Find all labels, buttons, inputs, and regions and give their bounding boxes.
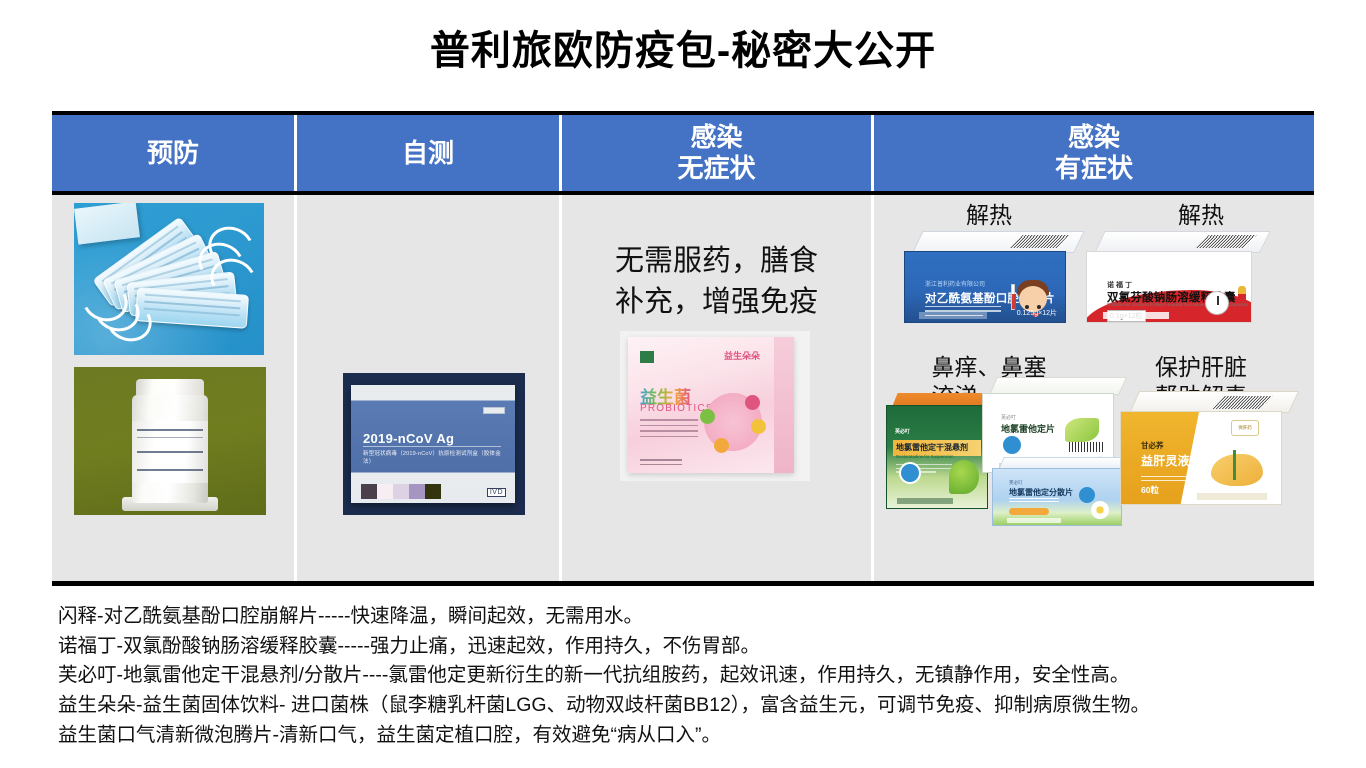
liver-brand: 甘必荞 bbox=[1141, 440, 1164, 451]
leaf-icon bbox=[949, 460, 979, 494]
column-header-self-test: 自测 bbox=[297, 115, 562, 191]
suspension-maker-strip bbox=[897, 498, 953, 504]
dispersible-claims bbox=[1009, 498, 1059, 504]
liver-count: 60粒 bbox=[1141, 484, 1159, 496]
bottle-label bbox=[132, 421, 208, 483]
table-header-row: 预防 自测 感染 无症状 感染 有症状 bbox=[52, 111, 1314, 195]
clock-icon bbox=[1205, 291, 1229, 315]
asymptomatic-advice-line2: 补充，增强免疫 bbox=[562, 282, 871, 323]
plant-leaves bbox=[1219, 448, 1251, 464]
barcode-icon bbox=[1213, 396, 1273, 409]
kit-ivd-mark: IVD bbox=[487, 488, 506, 497]
liver-box-face: 甘必荞 益肝灵液体胶囊 60粒 保肝药 bbox=[1120, 411, 1282, 505]
paracetamol-maker-strip bbox=[919, 312, 987, 319]
column-header-asymptomatic: 感染 无症状 bbox=[562, 115, 874, 191]
cell-self-test: 2019-nCoV Ag 新型冠状病毒（2019-nCoV）抗原检测试剂盒（胶体… bbox=[297, 195, 562, 581]
kit-subtitle: 新型冠状病毒（2019-nCoV）抗原检测试剂盒（胶体金法） bbox=[363, 449, 505, 465]
page-title: 普利旅欧防疫包-秘密大公开 bbox=[0, 18, 1366, 76]
note-line: 诺福丁-双氯酚酸钠肠溶缓释胶囊-----强力止痛，迅速起效，作用持久，不伤胃部。 bbox=[58, 632, 1343, 662]
note-line: 益生朵朵-益生菌固体饮料- 进口菌株（鼠李糖乳杆菌LGG、动物双歧杆菌BB12）… bbox=[58, 691, 1343, 721]
mouth-tablet-bottle-photo bbox=[74, 367, 266, 515]
paracetamol-box-face: 浙江普利药业有限公司 对乙酰氨基酚口腔崩解片 bbox=[904, 251, 1066, 323]
probiotics-brand: 益生朵朵 bbox=[724, 349, 760, 362]
liver-claims bbox=[1141, 476, 1199, 483]
barcode-icon bbox=[1069, 442, 1103, 452]
cell-symptomatic: 解热 解热 鼻痒、鼻塞 流涕、喷嚏 保护肝脏 帮助解毒 bbox=[874, 195, 1314, 581]
liver-box-top bbox=[1129, 391, 1299, 413]
mask-photo-corner bbox=[74, 203, 140, 245]
probiotics-box: 益生朵朵 益生菌 PROBIOTICS bbox=[628, 337, 794, 473]
barcode-icon bbox=[1010, 235, 1069, 248]
antigen-test-kit-photo: 2019-nCoV Ag 新型冠状病毒（2019-nCoV）抗原检测试剂盒（胶体… bbox=[343, 373, 525, 515]
quality-seal-icon bbox=[899, 462, 921, 484]
column-header-symptomatic: 感染 有症状 bbox=[874, 115, 1314, 191]
dispersible-name: 地氯雷他定分散片 bbox=[1009, 487, 1073, 498]
kit-color-swatches bbox=[361, 484, 441, 499]
cell-prevention bbox=[52, 195, 297, 581]
column-header-self-test-line1: 自测 bbox=[402, 138, 454, 168]
paracetamol-dose: 0.125g×12片 bbox=[1017, 308, 1057, 318]
diclofenac-maker-strip bbox=[1103, 312, 1169, 319]
paracetamol-box-top bbox=[912, 231, 1085, 253]
probiotics-photo: 益生朵朵 益生菌 PROBIOTICS bbox=[620, 331, 810, 481]
thermometer-icon bbox=[1011, 284, 1015, 310]
probiotics-company-logo bbox=[640, 351, 654, 364]
dispersible-highlight-bar bbox=[1009, 508, 1049, 515]
column-header-symptomatic-line1: 感染 bbox=[1068, 122, 1120, 152]
barcode-icon bbox=[1196, 235, 1257, 248]
probiotics-bullets bbox=[640, 419, 698, 441]
suspension-name-en: Desloratadine for Suspension bbox=[896, 454, 954, 459]
label-antipyretic-right: 解热 bbox=[1096, 201, 1306, 230]
tablet-name: 地氯雷他定片 bbox=[1001, 422, 1055, 435]
liver-seal-badge: 保肝药 bbox=[1231, 420, 1259, 436]
diclofenac-box-face: 诺福丁 双氯芬酸钠肠溶缓释胶囊 Diclofenac Sodium Enteri… bbox=[1086, 251, 1252, 323]
column-header-prevention: 预防 bbox=[52, 115, 297, 191]
dispersible-maker-strip bbox=[1007, 518, 1061, 523]
liver-capsule-box-photo: 甘必荞 益肝灵液体胶囊 60粒 保肝药 bbox=[1120, 391, 1298, 509]
probiotics-box-side bbox=[774, 337, 794, 473]
dispersible-box-face: 芙必叮 地氯雷他定分散片 bbox=[992, 468, 1122, 526]
paracetamol-brand: 浙江普利药业有限公司 bbox=[925, 279, 985, 288]
column-header-asymptomatic-line2: 无症状 bbox=[677, 153, 755, 184]
kit-badge bbox=[483, 407, 505, 414]
column-header-symptomatic-line2: 有症状 bbox=[1055, 153, 1133, 184]
note-line: 益生菌口气清新微泡腾片-清新口气，益生菌定植口腔，有效避免“病从口入”。 bbox=[58, 721, 1343, 751]
paracetamol-box-photo: 浙江普利药业有限公司 对乙酰氨基酚口腔崩解片 bbox=[904, 231, 1079, 327]
quality-seal-icon bbox=[1079, 487, 1095, 503]
quality-seal-icon bbox=[1003, 436, 1021, 454]
suspension-name: 地氯雷他定干混悬剂 bbox=[896, 442, 968, 453]
antigen-test-kit-box: 2019-nCoV Ag 新型冠状病毒（2019-nCoV）抗原检测试剂盒（胶体… bbox=[351, 385, 515, 503]
mask-photo bbox=[74, 203, 264, 355]
slide: 普利旅欧防疫包-秘密大公开 预防 自测 感染 无症状 bbox=[0, 0, 1366, 768]
label-liver-line1: 保护肝脏 bbox=[1096, 353, 1306, 382]
suspension-brand: 芙必叮 bbox=[895, 428, 910, 435]
probiotics-gut-graphic bbox=[704, 393, 762, 451]
desloratadine-dispersible-box-photo: 芙必叮 地氯雷他定分散片 bbox=[992, 457, 1132, 529]
note-line: 闪释-对乙酰氨基酚口腔崩解片-----快速降温，瞬间起效，无需用水。 bbox=[58, 602, 1343, 632]
probiotics-spec bbox=[640, 456, 682, 465]
asymptomatic-advice: 无需服药，膳食 补充，增强免疫 bbox=[562, 241, 871, 323]
asymptomatic-advice-line1: 无需服药，膳食 bbox=[562, 241, 871, 282]
diclofenac-box-photo: 诺福丁 双氯芬酸钠肠溶缓释胶囊 Diclofenac Sodium Enteri… bbox=[1086, 231, 1266, 327]
tablet-brand: 芙必叮 bbox=[1001, 414, 1016, 421]
comparison-table: 预防 自测 感染 无症状 感染 有症状 bbox=[52, 111, 1314, 590]
liver-plant-illustration bbox=[1211, 448, 1263, 488]
child-illustration bbox=[1017, 278, 1051, 312]
kit-rule bbox=[363, 446, 501, 447]
kit-title: 2019-nCoV Ag bbox=[363, 431, 454, 446]
leaf-icon bbox=[1065, 418, 1099, 442]
product-notes: 闪释-对乙酰氨基酚口腔崩解片-----快速降温，瞬间起效，无需用水。 诺福丁-双… bbox=[58, 602, 1343, 750]
liver-maker-strip bbox=[1197, 493, 1267, 500]
daisy-icon bbox=[1091, 501, 1109, 519]
label-antipyretic-left: 解热 bbox=[884, 201, 1094, 230]
column-header-asymptomatic-line1: 感染 bbox=[690, 122, 742, 152]
column-header-prevention-line1: 预防 bbox=[147, 138, 199, 168]
note-line: 芙必叮-地氯雷他定干混悬剂/分散片----氯雷他定更新衍生的新一代抗组胺药，起效… bbox=[58, 661, 1343, 691]
suspension-box-face: 芙必叮 地氯雷他定干混悬剂 Desloratadine for Suspensi… bbox=[886, 405, 988, 509]
diclofenac-box-top bbox=[1094, 231, 1271, 253]
table-body-row: 2019-nCoV Ag 新型冠状病毒（2019-nCoV）抗原检测试剂盒（胶体… bbox=[52, 195, 1314, 586]
cell-asymptomatic: 无需服药，膳食 补充，增强免疫 益生朵朵 益生菌 PROBIOTICS bbox=[562, 195, 874, 581]
capsule-icon bbox=[1238, 286, 1246, 302]
dispersible-brand: 芙必叮 bbox=[1009, 480, 1023, 486]
